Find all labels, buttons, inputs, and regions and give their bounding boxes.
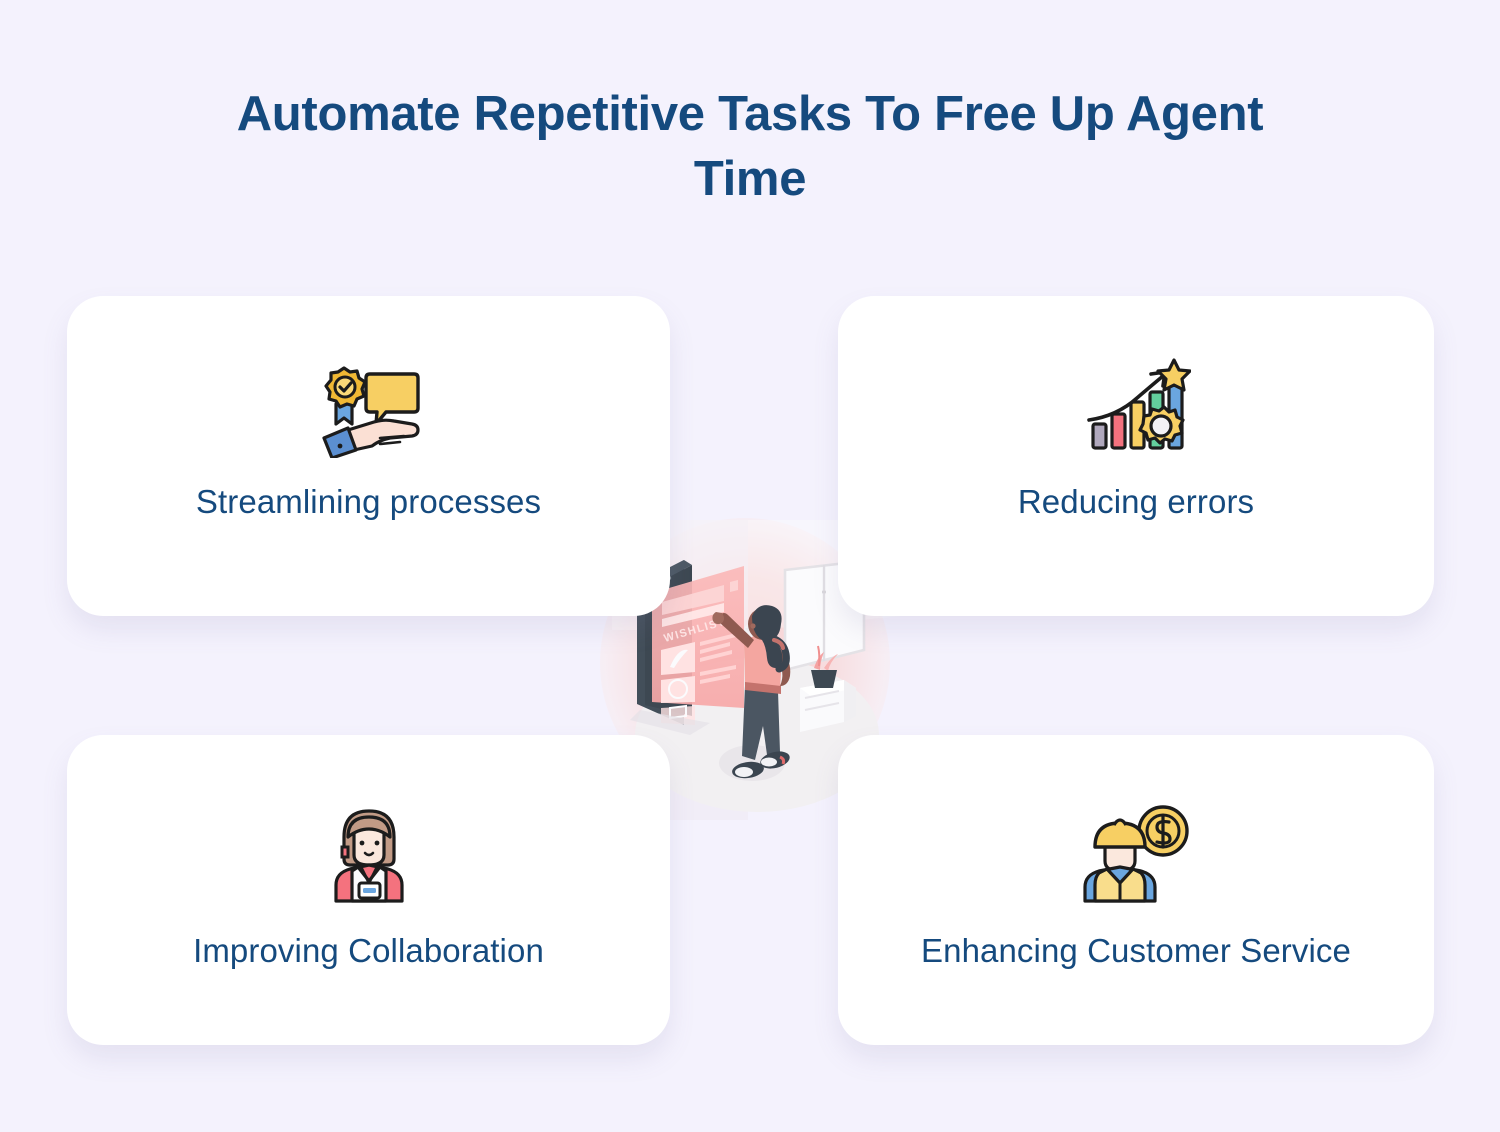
card-label: Improving Collaboration: [173, 931, 564, 971]
card-label: Enhancing Customer Service: [901, 931, 1371, 971]
growth-chart-star-gear-icon: [1081, 358, 1191, 458]
worker-dollar-coin-icon: [1081, 803, 1191, 903]
page-title: Automate Repetitive Tasks To Free Up Age…: [0, 82, 1500, 212]
support-agent-woman-icon: [314, 803, 424, 903]
card-label: Streamlining processes: [176, 482, 561, 522]
card-enhancing-customer-service[interactable]: Enhancing Customer Service: [838, 735, 1434, 1045]
card-improving-collaboration[interactable]: Improving Collaboration: [67, 735, 670, 1045]
hand-badge-speech-bubble-icon: [314, 358, 424, 458]
card-streamlining-processes[interactable]: Streamlining processes: [67, 296, 670, 616]
infographic-page: Automate Repetitive Tasks To Free Up Age…: [0, 0, 1500, 1132]
card-reducing-errors[interactable]: Reducing errors: [838, 296, 1434, 616]
card-label: Reducing errors: [998, 482, 1274, 522]
